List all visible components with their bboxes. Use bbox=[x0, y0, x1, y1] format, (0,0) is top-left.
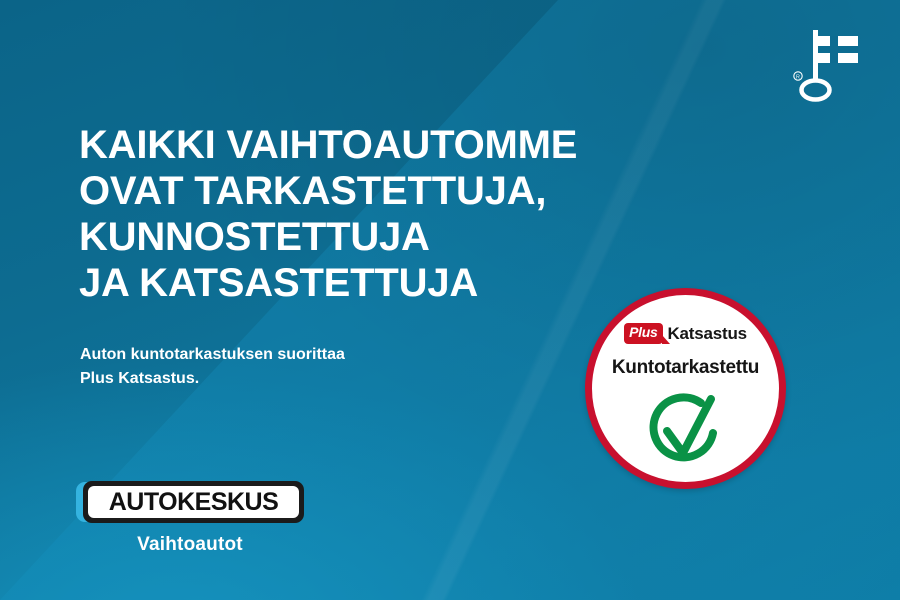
seal-brand-lockup: Plus Katsastus bbox=[592, 323, 779, 344]
headline-line-3: KUNNOSTETTUJA bbox=[79, 214, 679, 260]
seal-brand-word: Katsastus bbox=[667, 324, 746, 344]
page-title: KAIKKI VAIHTOAUTOMME OVAT TARKASTETTUJA,… bbox=[79, 122, 679, 306]
plus-katsastus-seal: Plus Katsastus Kuntotarkastettu bbox=[585, 288, 786, 489]
plus-logo-text: Plus bbox=[629, 324, 657, 340]
logo-license-plate: AUTOKESKUS bbox=[76, 481, 304, 523]
subtitle: Auton kuntotarkastuksen suorittaa Plus K… bbox=[80, 343, 500, 391]
logo-plate-face: AUTOKESKUS bbox=[88, 486, 299, 518]
headline-line-2: OVAT TARKASTETTUJA, bbox=[79, 168, 679, 214]
logo-tagline: Vaihtoautot bbox=[76, 534, 304, 556]
subtitle-line-1: Auton kuntotarkastuksen suorittaa bbox=[80, 343, 500, 367]
autokeskus-logo: AUTOKESKUS Vaihtoautot bbox=[76, 481, 316, 556]
avainlippu-key-flag-icon: R bbox=[786, 24, 862, 104]
headline-line-4: JA KATSASTETTUJA bbox=[79, 260, 679, 306]
plus-logo-tail bbox=[662, 335, 670, 344]
green-check-circle-icon bbox=[643, 393, 729, 471]
plus-logo-chip: Plus bbox=[624, 323, 663, 344]
logo-wordmark: AUTOKESKUS bbox=[109, 490, 279, 515]
seal-title: Kuntotarkastettu bbox=[592, 357, 779, 379]
subtitle-line-2: Plus Katsastus. bbox=[80, 367, 500, 391]
headline-line-1: KAIKKI VAIHTOAUTOMME bbox=[79, 122, 679, 168]
promo-banner: R KAIKKI VAIHTOAUTOMME OVAT TARKASTETTUJ… bbox=[0, 0, 900, 600]
svg-text:R: R bbox=[796, 75, 800, 81]
